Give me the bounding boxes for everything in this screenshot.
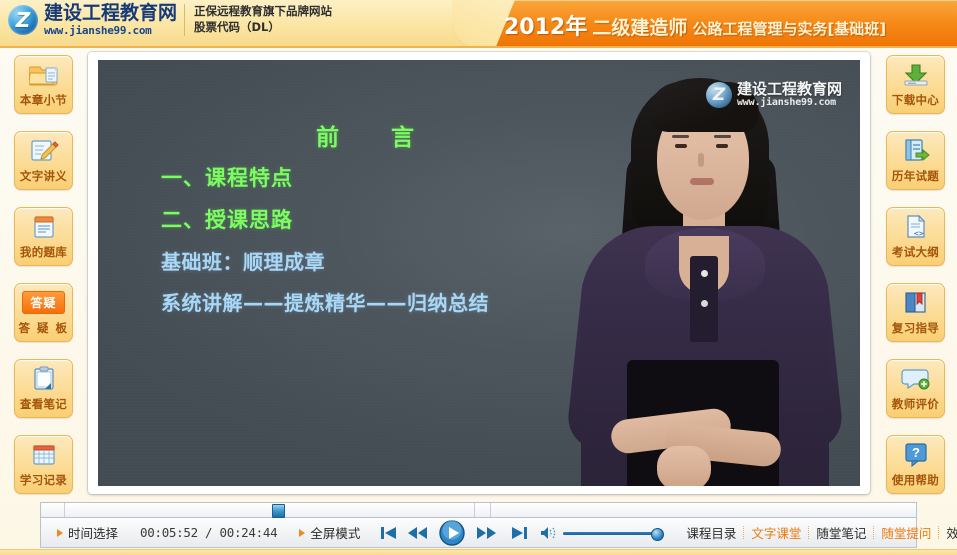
sidebar-item-text-lecture[interactable]: 文字讲义 xyxy=(14,131,73,190)
seek-bar[interactable] xyxy=(40,502,917,518)
link-ask-question[interactable]: 随堂提问 xyxy=(874,523,938,542)
sidebar-item-view-notes[interactable]: 查看笔记 xyxy=(14,359,73,418)
document-code-icon: <> xyxy=(887,213,944,239)
sidebar-item-review-guide[interactable]: 复习指导 xyxy=(886,283,945,342)
sidebar-item-label: 本章小节 xyxy=(15,92,72,108)
banner-exam: 二级建造师 xyxy=(592,17,687,39)
triangle-marker-icon xyxy=(57,529,63,537)
open-book-bookmark-icon xyxy=(887,289,944,315)
volume-track xyxy=(563,532,663,535)
sidebar-item-exam-syllabus[interactable]: <> 考试大纲 xyxy=(886,207,945,266)
header-rule xyxy=(0,46,957,48)
video-course-player: 建设工程教育网 www.jianshe99.com 正保远程教育旗下品牌网站 股… xyxy=(0,0,957,555)
sidebar-item-chapter-outline[interactable]: 本章小节 xyxy=(14,55,73,114)
sidebar-item-qa-board[interactable]: 答疑 答 疑 板 xyxy=(14,283,73,342)
speech-bubble-plus-icon xyxy=(887,365,944,391)
time-select-button[interactable]: 时间选择 xyxy=(57,523,118,542)
page-header: 建设工程教育网 www.jianshe99.com 正保远程教育旗下品牌网站 股… xyxy=(0,0,957,48)
slide-title: 前 言 xyxy=(316,118,416,152)
sidebar-item-label: 使用帮助 xyxy=(887,472,944,488)
link-course-catalog[interactable]: 课程目录 xyxy=(679,523,743,542)
qa-badge-label: 答疑 xyxy=(22,291,64,314)
site-branding: 建设工程教育网 www.jianshe99.com 正保远程教育旗下品牌网站 股… xyxy=(8,4,332,36)
slide-line-1: 一、课程特点 xyxy=(161,162,293,192)
note-pencil-icon xyxy=(15,137,72,163)
footer-bar xyxy=(0,550,957,555)
link-class-notes[interactable]: 随堂笔记 xyxy=(809,523,873,542)
header-subtitle-line2: 股票代码（DL） xyxy=(194,20,332,36)
watermark-brand: 建设工程教育网 xyxy=(737,82,842,98)
banner-course: 公路工程管理与实务[基础班] xyxy=(692,20,886,38)
sidebar-item-label: 考试大纲 xyxy=(887,244,944,260)
calendar-grid-icon xyxy=(15,441,72,467)
video-player-surface[interactable]: 前 言 一、课程特点 二、授课思路 基础班：顺理成章 系统讲解——提炼精华——归… xyxy=(98,60,860,486)
sidebar-item-download-center[interactable]: 下载中心 xyxy=(886,55,945,114)
jianshe-z-logo-icon xyxy=(8,5,38,35)
sidebar-item-past-papers[interactable]: 历年试题 xyxy=(886,131,945,190)
fullscreen-button[interactable]: 全屏模式 xyxy=(299,523,360,542)
sidebar-item-help[interactable]: ? 使用帮助 xyxy=(886,435,945,494)
volume-slider[interactable] xyxy=(563,527,663,539)
fast-forward-icon[interactable] xyxy=(476,525,496,541)
download-arrow-icon xyxy=(887,61,944,87)
fullscreen-label: 全屏模式 xyxy=(310,523,360,542)
right-sidebar: 下载中心 历年试题 <> xyxy=(873,50,957,512)
skip-previous-icon[interactable] xyxy=(380,525,397,541)
answer-badge-icon: 答疑 xyxy=(15,289,72,315)
jianshe-z-logo-icon xyxy=(706,82,732,108)
player-control-bar: 时间选择 00:05:52 / 00:24:44 全屏模式 xyxy=(40,518,917,548)
sidebar-item-label: 我的题库 xyxy=(15,244,72,260)
brand-name: 建设工程教育网 xyxy=(44,4,177,23)
svg-text:?: ? xyxy=(912,445,920,460)
clipboard-lines-icon xyxy=(15,213,72,239)
link-text-classroom[interactable]: 文字课堂 xyxy=(744,523,808,542)
seek-handle-icon[interactable] xyxy=(272,504,285,518)
video-watermark: 建设工程教育网 www.jianshe99.com xyxy=(706,82,842,108)
svg-text:<>: <> xyxy=(914,229,924,238)
rewind-icon[interactable] xyxy=(408,525,428,541)
link-effect-switch[interactable]: 效果切换 xyxy=(939,523,957,542)
bottom-link-group: 课程目录 文字课堂 随堂笔记 随堂提问 效果切换 xyxy=(679,523,957,542)
sidebar-item-label: 教师评价 xyxy=(887,396,944,412)
brand-url: www.jianshe99.com xyxy=(44,25,177,36)
banner-year: 2012年 xyxy=(504,15,587,40)
slide-line-4: 系统讲解——提炼精华——归纳总结 xyxy=(161,287,489,316)
header-subtitle-line1: 正保远程教育旗下品牌网站 xyxy=(194,4,332,20)
speaker-icon[interactable] xyxy=(540,525,558,541)
sidebar-item-study-record[interactable]: 学习记录 xyxy=(14,435,73,494)
course-banner: 2012年 二级建造师 公路工程管理与实务[基础班] xyxy=(452,0,957,48)
slide-line-3: 基础班：顺理成章 xyxy=(161,246,325,275)
video-panel: 前 言 一、课程特点 二、授课思路 基础班：顺理成章 系统讲解——提炼精华——归… xyxy=(88,52,870,494)
time-select-label: 时间选择 xyxy=(68,523,118,542)
sidebar-item-label: 复习指导 xyxy=(887,320,944,336)
play-circle-icon[interactable] xyxy=(439,520,465,546)
header-subtitle: 正保远程教育旗下品牌网站 股票代码（DL） xyxy=(194,4,332,35)
help-question-bubble-icon: ? xyxy=(887,441,944,467)
sidebar-item-label: 下载中心 xyxy=(887,92,944,108)
sidebar-item-teacher-rating[interactable]: 教师评价 xyxy=(886,359,945,418)
time-display: 00:05:52 / 00:24:44 xyxy=(140,525,277,540)
sidebar-item-label: 历年试题 xyxy=(887,168,944,184)
book-arrow-icon xyxy=(887,137,944,163)
sidebar-item-label: 答 疑 板 xyxy=(15,320,72,336)
transport-controls xyxy=(380,520,528,546)
sidebar-item-label: 查看笔记 xyxy=(15,396,72,412)
skip-next-icon[interactable] xyxy=(511,525,528,541)
sidebar-item-label: 学习记录 xyxy=(15,472,72,488)
volume-knob[interactable] xyxy=(651,528,664,541)
slide-line-2: 二、授课思路 xyxy=(161,204,293,234)
brand-text: 建设工程教育网 www.jianshe99.com xyxy=(44,4,177,36)
folder-document-icon xyxy=(15,61,72,87)
watermark-url: www.jianshe99.com xyxy=(737,98,842,109)
sidebar-item-my-question-bank[interactable]: 我的题库 xyxy=(14,207,73,266)
header-divider xyxy=(184,4,185,36)
volume-control[interactable] xyxy=(540,525,663,541)
triangle-marker-icon xyxy=(299,529,305,537)
instructor-figure xyxy=(553,60,860,486)
notepad-pen-icon xyxy=(15,365,72,391)
sidebar-item-label: 文字讲义 xyxy=(15,168,72,184)
left-sidebar: 本章小节 文字讲义 xyxy=(0,50,92,512)
